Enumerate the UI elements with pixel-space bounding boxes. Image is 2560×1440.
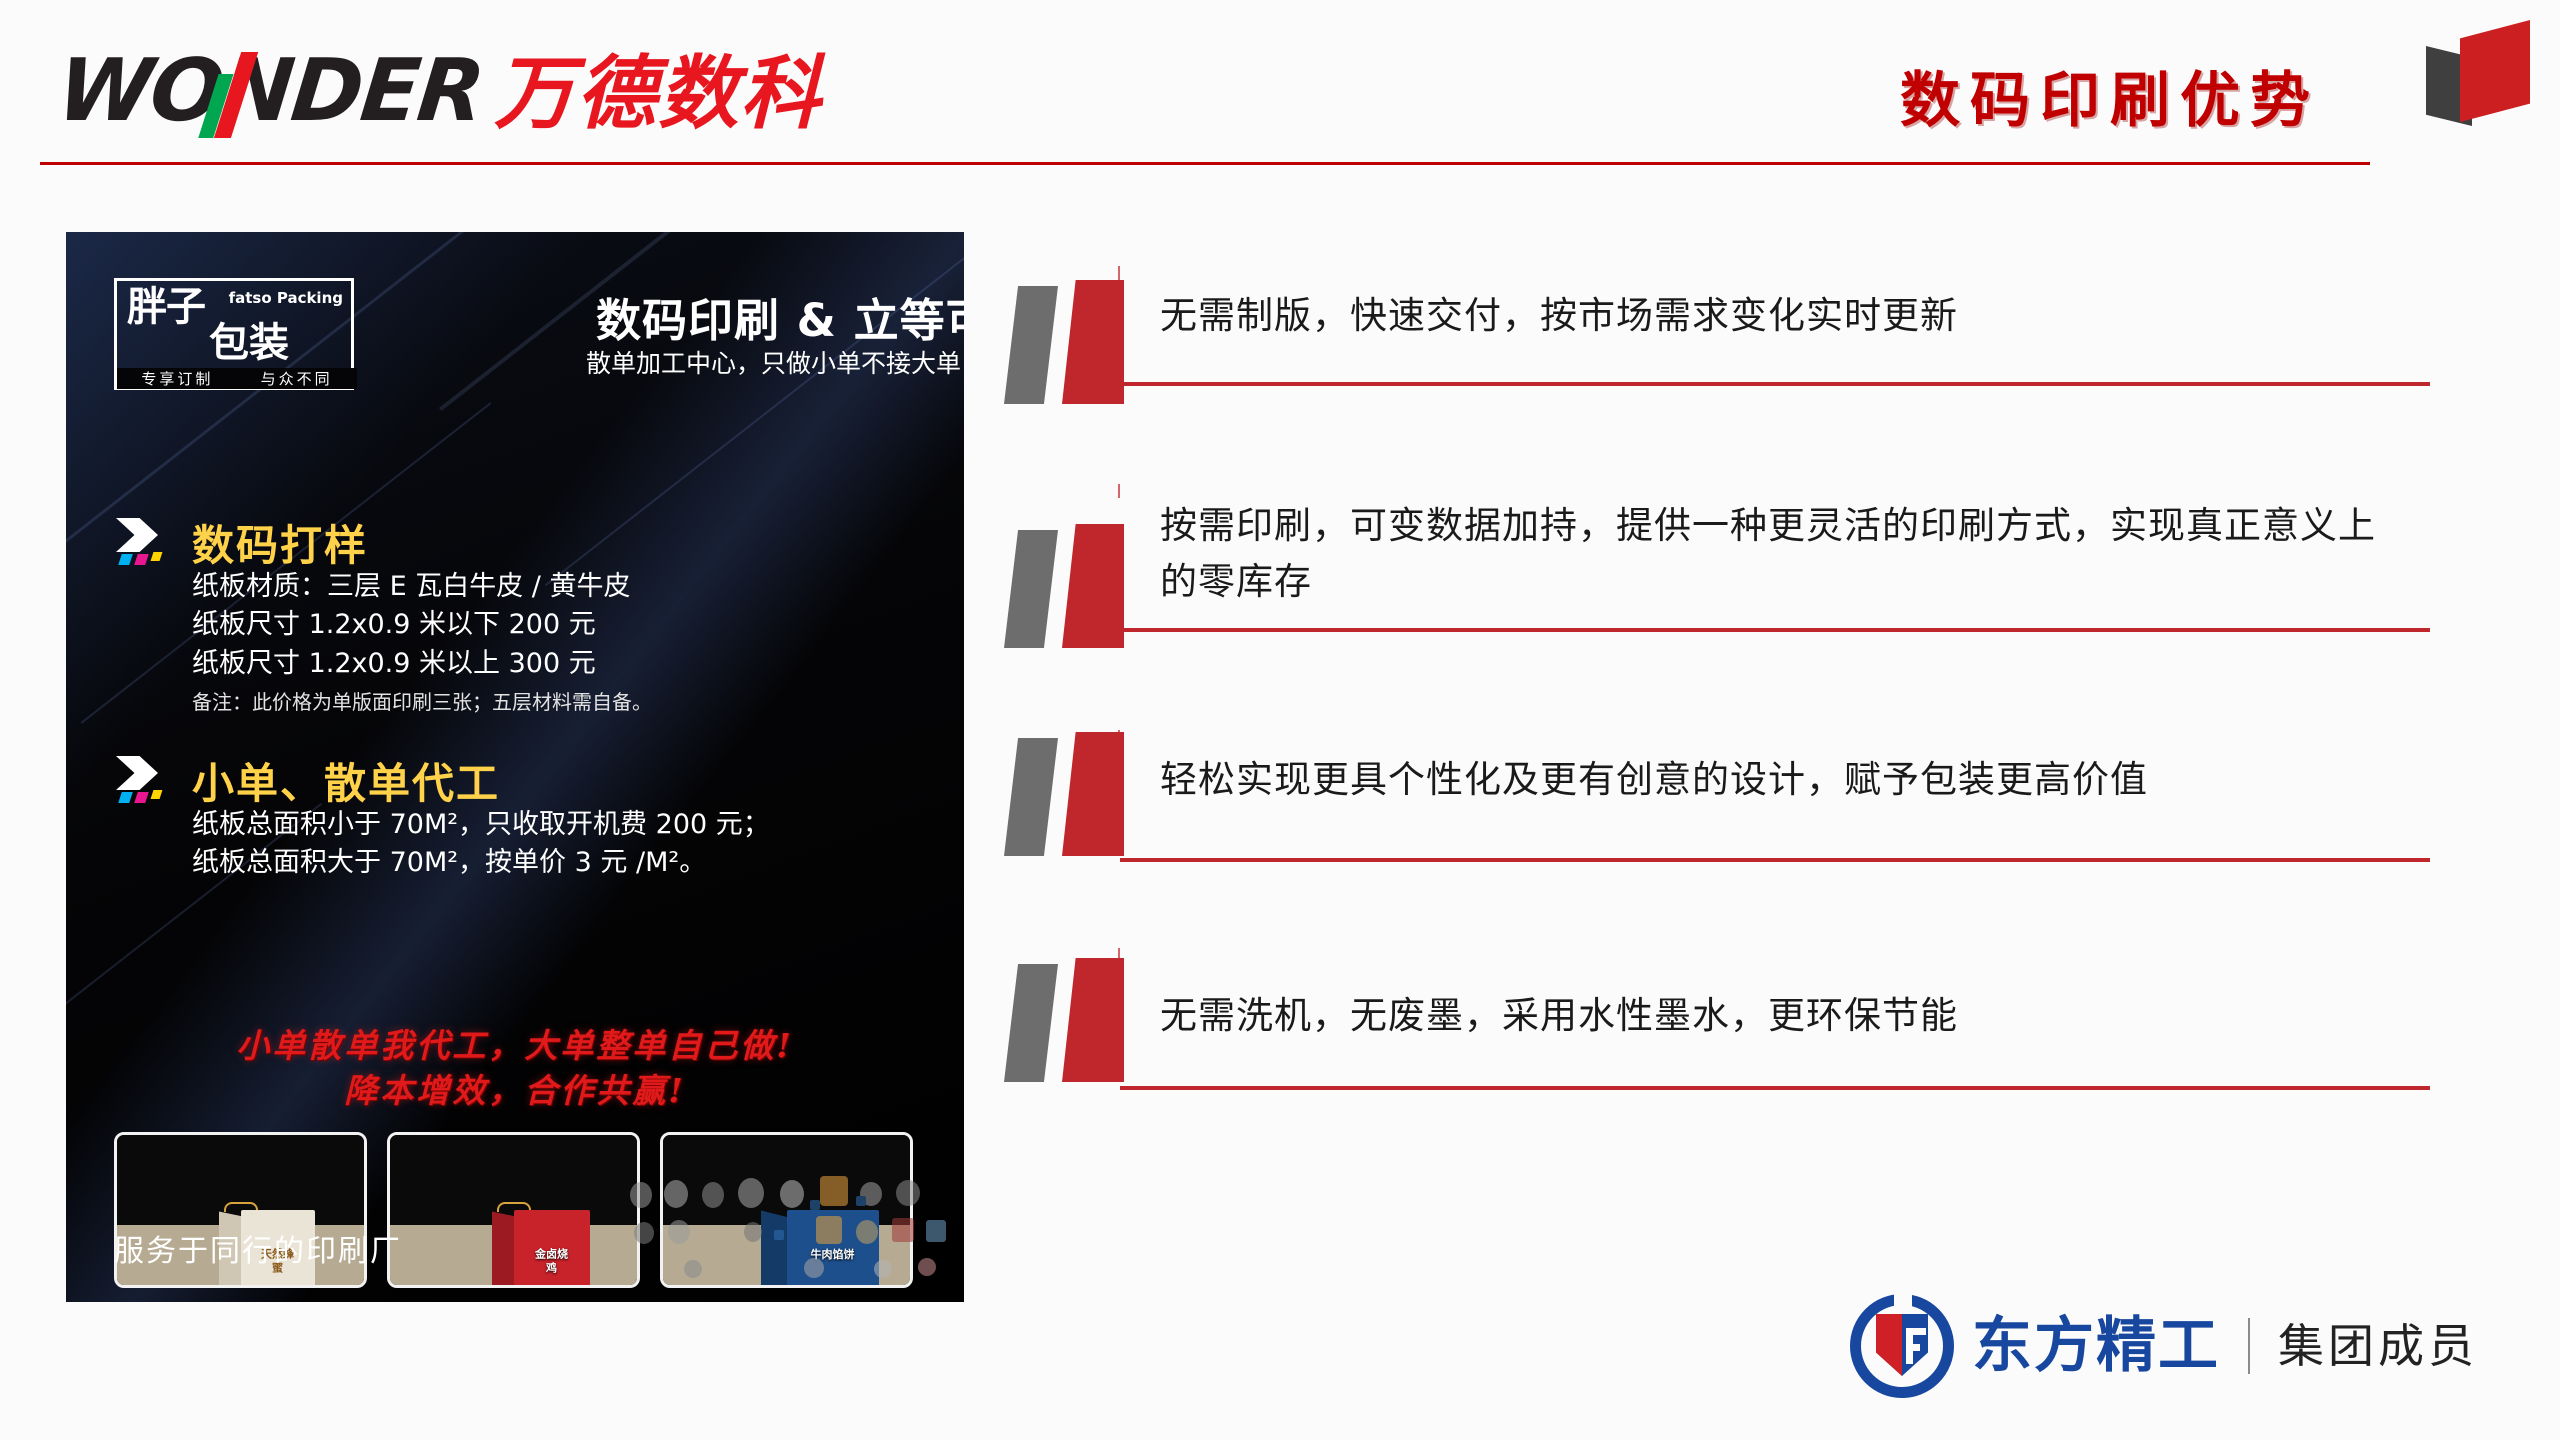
arrow-shape [116,518,158,552]
cmyk-dot-cyan [118,554,133,565]
section-line: 纸板尺寸 1.2x0.9 米以下 200 元 [192,606,652,644]
advantage-text: 按需印刷，可变数据加持，提供一种更灵活的印刷方式，实现真正意义上的零库存 [1160,498,2390,626]
dongfang-jingong-logo-icon [1850,1294,1954,1398]
advantage-item-2: 按需印刷，可变数据加持，提供一种更灵活的印刷方式，实现真正意义上的零库存 [1000,498,2430,626]
dot [804,1258,824,1278]
advantage-text: 无需洗机，无废墨，采用水性墨水，更环保节能 [1160,962,2430,1080]
dot [780,1180,804,1208]
advantage-item-1: 无需制版，快速交付，按市场需求变化实时更新 [1000,280,2430,380]
dot [702,1182,724,1208]
section-line: 纸板尺寸 1.2x0.9 米以上 300 元 [192,645,652,683]
slogan-line-1: 小单散单我代工，大单整单自己做! [66,1024,964,1069]
poster-headline: 数码印刷 & 立等可取 [596,284,964,349]
section-line: 纸板总面积大于 70M²，按单价 3 元 /M²。 [192,844,770,882]
fatso-logo-second-text: 包装 [209,323,289,363]
page-header: WONDER 万德数科 数码印刷优势 [0,0,2560,168]
advantages-list: 无需制版，快速交付，按市场需求变化实时更新 按需印刷，可变数据加持，提供一种更灵… [1000,280,2430,1198]
bullet-marker-icon [1000,958,1150,1080]
dot [684,1260,702,1278]
dot [634,1222,654,1244]
footer-membership-text: 集团成员 [2278,1323,2478,1369]
product-photo: 金卤烧鸡 [387,1132,640,1288]
dot [664,1180,688,1208]
dot [926,1220,946,1242]
promo-poster-image: 胖子 fatso Packing 包装 专享订制 与众不同 数码印刷 & 立等可… [66,232,964,1302]
advantage-item-3: 轻松实现更具个性化及更有创意的设计，赋予包装更高价值 [1000,744,2430,844]
section-body: 纸板材质：三层 E 瓦白牛皮 / 黄牛皮 纸板尺寸 1.2x0.9 米以下 20… [192,568,652,717]
marker-red-bar [1062,732,1124,856]
brand-latin-text: WONDER [53,48,486,134]
poster-footer-text: 服务于同行的印刷厂 [114,1226,402,1270]
halftone-dots-decoration [624,1174,954,1294]
dot [918,1258,936,1276]
cmyk-dot-magenta [134,554,149,565]
page-title: 数码印刷优势 [1900,52,2320,139]
dot [810,1200,820,1210]
box-front: 金卤烧鸡 [514,1210,590,1288]
marker-gray-bar [1004,286,1058,404]
fatso-logo-english-text: fatso Packing [229,289,343,307]
header-divider [40,162,2370,165]
bullet-underline [1120,1086,2430,1090]
wonder-brand-logo: WONDER 万德数科 [58,48,822,134]
chevron-arrow-icon [114,518,180,568]
page-footer: 东方精工 集团成员 [1850,1294,2478,1398]
fatso-logo-tagline: 专享订制 与众不同 [117,368,357,389]
dot [896,1180,920,1206]
chevron-arrow-icon [114,756,180,806]
marker-gray-bar [1004,964,1058,1082]
cmyk-dot-magenta [134,792,149,803]
cmyk-dot-yellow [151,552,163,561]
dot [744,1222,762,1242]
section-title: 小单、散单代工 [192,750,500,811]
box-label: 金卤烧鸡 [533,1248,571,1277]
cmyk-dot-cyan [118,792,133,803]
corner-decoration-icon [2418,8,2538,130]
dot [738,1178,764,1208]
marker-red-bar [1062,280,1124,404]
section-body: 纸板总面积小于 70M²，只收取开机费 200 元； 纸板总面积大于 70M²，… [192,806,770,883]
dot [874,1260,892,1278]
slogan-line-2: 降本增效，合作共赢! [66,1069,964,1114]
brand-n-accent: N [217,48,296,134]
bullet-tick-mark [1118,266,1120,280]
fatso-tagline-right: 与众不同 [249,368,345,389]
bullet-underline [1120,628,2430,632]
logo-f-bar-mid [1906,1344,1920,1351]
fatso-tagline-left: 专享订制 [129,368,225,389]
bullet-tick-mark [1118,484,1120,498]
poster-slogan: 小单散单我代工，大单整单自己做! 降本增效，合作共赢! [66,1024,964,1113]
bullet-marker-icon [1000,732,1150,854]
dot [820,1176,848,1206]
marker-gray-bar [1004,530,1058,648]
dot [856,1196,866,1206]
dot [856,1220,878,1244]
dot [892,1218,914,1242]
bullet-underline [1120,382,2430,386]
cmyk-dot-yellow [151,790,163,799]
arrow-shape [116,756,158,790]
footer-divider [2248,1318,2250,1374]
section-line: 纸板总面积小于 70M²，只收取开机费 200 元； [192,806,770,844]
box-side [492,1211,516,1288]
dot [668,1220,690,1244]
advantage-text: 轻松实现更具个性化及更有创意的设计，赋予包装更高价值 [1160,744,2430,844]
advantage-item-4: 无需洗机，无废墨，采用水性墨水，更环保节能 [1000,962,2430,1080]
section-title: 数码打样 [192,512,368,573]
dot [630,1182,652,1208]
corner-red-shape [2460,20,2530,122]
advantage-text: 无需制版，快速交付，按市场需求变化实时更新 [1160,280,2430,380]
brand-chinese-text: 万德数科 [494,54,822,134]
marker-red-bar [1062,958,1124,1082]
section-line: 纸板材质：三层 E 瓦白牛皮 / 黄牛皮 [192,568,652,606]
section-note: 备注：此价格为单版面印刷三张；五层材料需自备。 [192,687,652,717]
fatso-logo-main-text: 胖子 [127,287,205,327]
poster-subheadline: 散单加工中心，只做小单不接大单 [586,344,961,380]
bullet-underline [1120,858,2430,862]
dot [816,1216,842,1244]
logo-notch [1894,1291,1912,1309]
footer-company-name: 东方精工 [1972,1316,2220,1376]
marker-red-bar [1062,524,1124,648]
fatso-packing-logo: 胖子 fatso Packing 包装 专享订制 与众不同 [114,278,354,390]
logo-f-bar-top [1906,1328,1926,1335]
marker-gray-bar [1004,738,1058,856]
dot [774,1230,784,1240]
